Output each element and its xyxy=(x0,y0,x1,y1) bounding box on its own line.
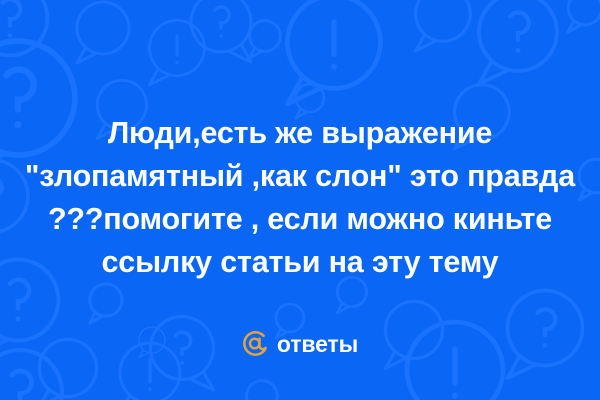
at-icon xyxy=(242,330,269,357)
question-text: Люди,есть же выражение "злопамятный ,как… xyxy=(0,112,600,284)
question-line-4: ссылку статьи на эту тему xyxy=(12,241,588,284)
brand-name: ответы xyxy=(277,333,358,356)
question-line-2: "злопамятный ,как слон" это правда xyxy=(12,155,588,198)
brand-logo[interactable]: ответы xyxy=(0,330,600,357)
question-line-3: ???помогите , если можно киньте xyxy=(12,198,588,241)
question-line-1: Люди,есть же выражение xyxy=(12,112,588,155)
question-card: Люди,есть же выражение "злопамятный ,как… xyxy=(0,0,600,400)
